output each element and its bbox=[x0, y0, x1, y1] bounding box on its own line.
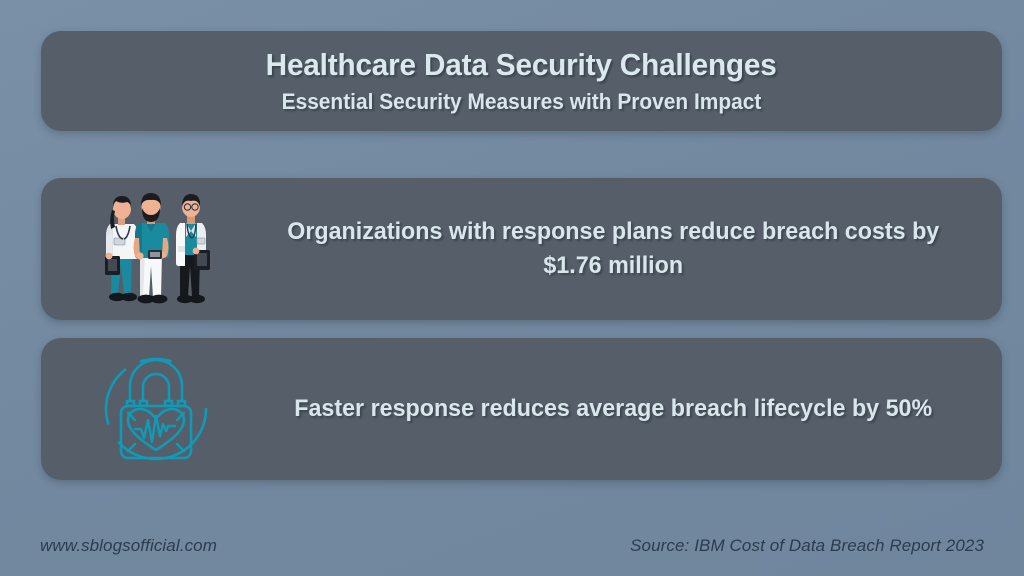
footer: www.sblogsofficial.com Source: IBM Cost … bbox=[0, 526, 1024, 566]
fact-card-response-plans: Organizations with response plans reduce… bbox=[41, 178, 1002, 320]
fact-card-breach-lifecycle: Faster response reduces average breach l… bbox=[41, 338, 1002, 480]
heart-lock-icon bbox=[41, 344, 271, 474]
page-title: Healthcare Data Security Challenges bbox=[266, 47, 777, 83]
infographic-poster: Healthcare Data Security Challenges Esse… bbox=[0, 0, 1024, 576]
footer-website: www.sblogsofficial.com bbox=[40, 536, 217, 556]
footer-source-attribution: Source: IBM Cost of Data Breach Report 2… bbox=[630, 536, 984, 556]
fact-text: Organizations with response plans reduce… bbox=[282, 215, 991, 283]
fact-text: Faster response reduces average breach l… bbox=[282, 392, 991, 426]
medical-team-icon bbox=[41, 184, 271, 314]
page-subtitle: Essential Security Measures with Proven … bbox=[282, 89, 762, 115]
header-card: Healthcare Data Security Challenges Esse… bbox=[41, 31, 1002, 131]
